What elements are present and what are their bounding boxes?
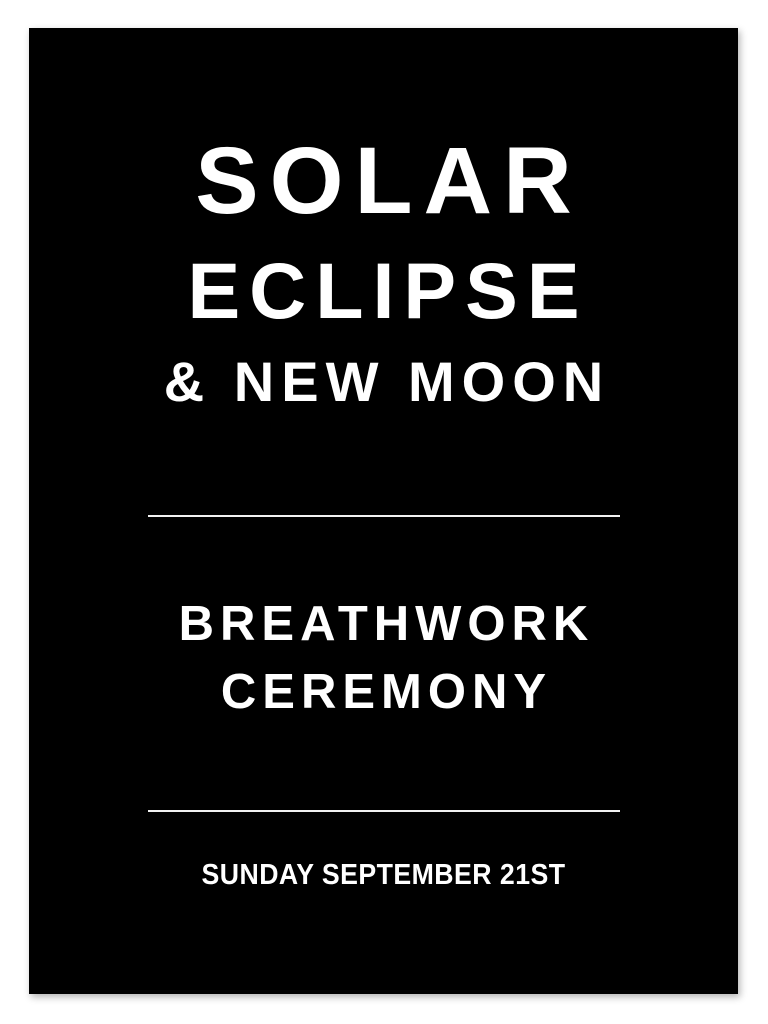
headline-line-eclipse: ECLIPSE — [178, 251, 588, 330]
poster-panel: SOLAR ECLIPSE & NEW MOON BREATHWORK CERE… — [29, 28, 738, 994]
event-title-group: BREATHWORK CEREMONY — [29, 600, 738, 717]
divider-bottom — [148, 810, 620, 812]
event-title-line-2: CEREMONY — [215, 668, 552, 717]
poster-canvas: SOLAR ECLIPSE & NEW MOON BREATHWORK CERE… — [0, 0, 768, 1024]
headline-group: SOLAR ECLIPSE & NEW MOON — [29, 134, 738, 410]
divider-top — [148, 515, 620, 517]
headline-line-solar: SOLAR — [184, 134, 583, 229]
event-title-line-1: BREATHWORK — [173, 600, 595, 649]
event-date: SUNDAY SEPTEMBER 21ST — [57, 861, 709, 890]
headline-line-new-moon: & NEW MOON — [157, 354, 610, 410]
